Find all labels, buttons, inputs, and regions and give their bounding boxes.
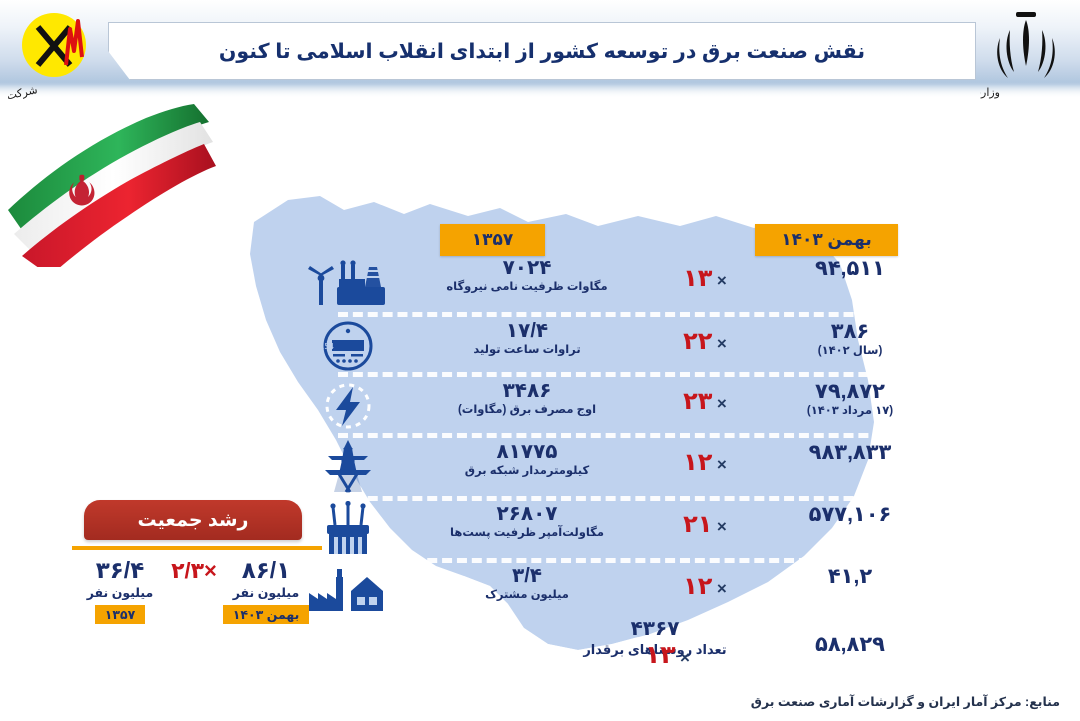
old-unit: مگاوات ظرفیت نامی نیروگاه [396,280,658,295]
stat-row-nameplate-capacity: ۷۰۲۴ مگاوات ظرفیت نامی نیروگاه × ۱۳ ۹۴,۵… [300,252,920,314]
population-growth-panel: رشد جمعیت ۸۶/۱ میلیون نفر بهمن ۱۴۰۳ ×۲/۳… [72,500,322,650]
population-old-value: ۳۶/۴ [72,556,168,584]
old-value: ۸۱۷۷۵ [396,440,658,464]
old-value: ۳۴۸۶ [396,379,658,403]
population-new-tag: بهمن ۱۴۰۳ [223,605,310,624]
stat-row-generation: 02154 ۱۷/۴ تراوات ساعت تولید × ۲۲ ۳۸۶ (س… [300,315,920,377]
multiply-symbol: × [717,394,727,413]
old-value: ۷۰۲۴ [396,256,658,280]
stat-row-substation-capacity: ۲۶۸۰۷ مگاولت‌آمپر ظرفیت پست‌ها × ۲۱ ۵۷۷,… [300,498,920,560]
new-value: ۳۸۶ [755,319,945,344]
multiplier-value: ۲۳ [683,388,712,415]
old-value-block: ۳۴۸۶ اوج مصرف برق (مگاوات) [396,379,658,418]
old-value: ۴۳۶۷ [530,618,780,641]
new-value: ۹۴,۵۱۱ [755,256,945,281]
new-value-block: ۹۸۳,۸۳۳ [755,440,945,465]
old-value-block: ۲۶۸۰۷ مگاولت‌آمپر ظرفیت پست‌ها [396,502,658,541]
old-value-block: ۸۱۷۷۵ کیلومترمدار شبکه برق [396,440,658,479]
new-value-block: ۴۱,۲ [755,564,945,589]
old-unit: اوج مصرف برق (مگاوات) [396,403,658,418]
multiplier-value: ۱۳ [645,641,676,669]
multiplier-block: × ۱۳ [650,264,760,293]
electricity-meter-icon: 02154 [300,315,396,377]
new-value-block: ۵۷۷,۱۰۶ [755,502,945,527]
new-value-block: ۳۸۶ (سال ۱۴۰۲) [755,319,945,359]
population-old-tag: ۱۳۵۷ [95,605,146,624]
multiply-symbol: × [717,579,727,598]
old-value-block: ۱۷/۴ تراوات ساعت تولید [396,319,658,358]
sources-note: منابع: مرکز آمار ایران و گزارشات آماری ص… [751,694,1060,709]
transmission-tower-icon [300,436,396,498]
multiply-symbol: × [717,271,727,290]
old-value: ۲۶۸۰۷ [396,502,658,526]
multiply-symbol: × [717,334,727,353]
multiplier-block: × ۱۲ [650,572,760,601]
stat-row-network-length: ۸۱۷۷۵ کیلومترمدار شبکه برق × ۱۲ ۹۸۳,۸۳۳ [300,436,920,498]
new-value: ۷۹,۸۷۲ [755,379,945,404]
new-value-block: ۷۹,۸۷۲ (۱۷ مرداد ۱۴۰۳) [755,379,945,419]
multiplier-value: ۲۲ [683,328,712,355]
population-growth-title: رشد جمعیت [84,500,302,540]
old-unit: مگاولت‌آمپر ظرفیت پست‌ها [396,526,658,541]
old-value: ۱۷/۴ [396,319,658,343]
multiplier-value: ۱۳ [683,265,712,292]
multiply-symbol: × [717,455,727,474]
new-value-block: ۹۴,۵۱۱ [755,256,945,281]
multiplier-block: × ۲۲ [650,327,760,356]
new-value: ۹۸۳,۸۳۳ [755,440,945,465]
multiplier-value: ۱۲ [683,573,712,600]
population-new-value: ۸۶/۱ [218,556,314,584]
old-value-block: ۳/۴ میلیون مشترک [396,564,658,603]
stat-row-peak-demand: ۳۴۸۶ اوج مصرف برق (مگاوات) × ۲۳ ۷۹,۸۷۲ (… [300,375,920,437]
new-note: (۱۷ مرداد ۱۴۰۳) [755,404,945,419]
stat-row-subscribers: ۳/۴ میلیون مشترک × ۱۲ ۴۱,۲ [300,560,920,622]
population-divider-rule [72,546,322,550]
power-plant-wind-turbine-icon [300,252,396,314]
multiply-symbol: × [717,517,727,536]
population-new-unit: میلیون نفر [218,584,314,602]
multiplier-block: × ۱۲ [650,448,760,477]
multiply-symbol: × [680,648,690,667]
new-value: ۵۷۷,۱۰۶ [755,502,945,527]
new-note: (سال ۱۴۰۲) [755,344,945,359]
population-multiplier: ×۲/۳ [168,558,220,584]
multiplier-block: × ۲۱ [650,510,760,539]
multiplier-block: × ۱۳ [645,640,690,670]
old-unit: میلیون مشترک [396,588,658,603]
svg-text:02154: 02154 [320,342,334,351]
multiplier-block: × ۲۳ [650,387,760,416]
population-old-unit: میلیون نفر [72,584,168,602]
old-value: ۳/۴ [396,564,658,588]
multiplier-value: ۲۱ [683,511,712,538]
old-unit: کیلومترمدار شبکه برق [396,464,658,479]
new-value: ۴۱,۲ [755,564,945,589]
population-values: ۸۶/۱ میلیون نفر بهمن ۱۴۰۳ ×۲/۳ ۳۶/۴ میلی… [72,556,322,650]
infographic-root: شرکت توانیر نقش صنعت برق در توسعه کشور ا… [0,0,1080,721]
population-new-block: ۸۶/۱ میلیون نفر بهمن ۱۴۰۳ [218,556,314,624]
stat-row-electrified-villages: ۴۳۶۷ تعداد روستاهای برقدار × ۱۳ ۵۸,۸۲۹ [470,618,920,676]
new-value-block: ۵۸,۸۲۹ [755,632,945,657]
lightning-bolt-icon [300,375,396,437]
population-old-block: ۳۶/۴ میلیون نفر ۱۳۵۷ [72,556,168,624]
new-value: ۵۸,۸۲۹ [755,632,945,657]
old-value-block: ۷۰۲۴ مگاوات ظرفیت نامی نیروگاه [396,256,658,295]
old-unit: تراوات ساعت تولید [396,343,658,358]
multiplier-value: ۱۲ [683,449,712,476]
